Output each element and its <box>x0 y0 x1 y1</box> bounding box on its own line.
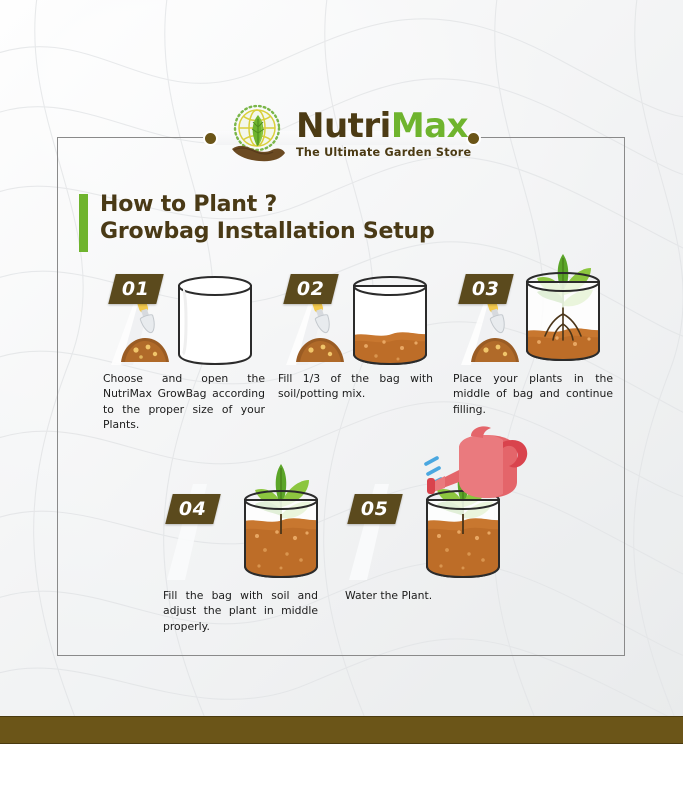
frame-dot-left <box>203 131 218 146</box>
headline-line-1: How to Plant ? <box>100 192 435 219</box>
step-05-badge: 05 <box>347 494 402 524</box>
step-03: 03 <box>453 270 613 417</box>
growbag-with-seedling-icon <box>511 248 615 366</box>
step-04: 04 <box>163 470 318 634</box>
brand-wordmark: NutriMax <box>296 109 471 143</box>
step-01-text: Choose and open the NutriMax GrowBag acc… <box>103 371 265 432</box>
empty-growbag-icon <box>165 274 265 366</box>
step-03-number: 03 <box>472 280 499 299</box>
step-02: 02 <box>278 270 433 402</box>
watering-can-body <box>427 426 527 498</box>
brand-name-part2: Max <box>391 106 468 146</box>
brand-name-part1: Nutri <box>296 106 391 146</box>
bottom-accent-bar <box>0 716 683 744</box>
brand-logo-text: NutriMax The Ultimate Garden Store <box>296 107 471 159</box>
light-ribbon <box>345 470 405 580</box>
brand-logo: NutriMax The Ultimate Garden Store <box>228 101 460 165</box>
step-05-text: Water the Plant. <box>345 588 505 603</box>
step-02-art: 02 <box>278 270 453 365</box>
step-04-badge: 04 <box>165 494 220 524</box>
step-02-text: Fill 1/3 of the bag with soil/potting mi… <box>278 371 433 402</box>
step-03-art: 03 <box>453 270 628 365</box>
page-title: How to Plant ? Growbag Installation Setu… <box>79 192 435 252</box>
step-01-badge: 01 <box>108 274 163 304</box>
step-03-text: Place your plants in the middle of bag a… <box>453 371 613 417</box>
step-04-number: 04 <box>179 500 206 519</box>
headline-line-2: Growbag Installation Setup <box>100 219 435 246</box>
step-01-art: 01 <box>103 270 278 365</box>
poster: NutriMax The Ultimate Garden Store How t… <box>0 0 683 800</box>
headline-lines: How to Plant ? Growbag Installation Setu… <box>100 192 435 252</box>
step-04-art: 04 <box>163 470 338 580</box>
step-02-number: 02 <box>297 280 324 299</box>
watering-can-icon <box>413 424 533 519</box>
step-01-number: 01 <box>122 280 149 299</box>
step-05: 05 <box>345 470 505 603</box>
light-ribbon <box>163 470 223 580</box>
step-05-art: 05 <box>345 470 520 580</box>
step-04-text: Fill the bag with soil and adjust the pl… <box>163 588 318 634</box>
brand-tagline: The Ultimate Garden Store <box>296 146 471 159</box>
step-01: 01 Choose and open the NutriMax GrowBag … <box>103 270 265 432</box>
step-03-badge: 03 <box>458 274 513 304</box>
growbag-one-third-soil-icon <box>340 274 440 366</box>
leaf-globe-in-hand-icon <box>228 103 288 163</box>
step-05-number: 05 <box>361 500 388 519</box>
step-02-badge: 02 <box>283 274 338 304</box>
headline-accent-bar <box>79 194 88 252</box>
growbag-full-soil-plant-icon <box>227 456 335 586</box>
